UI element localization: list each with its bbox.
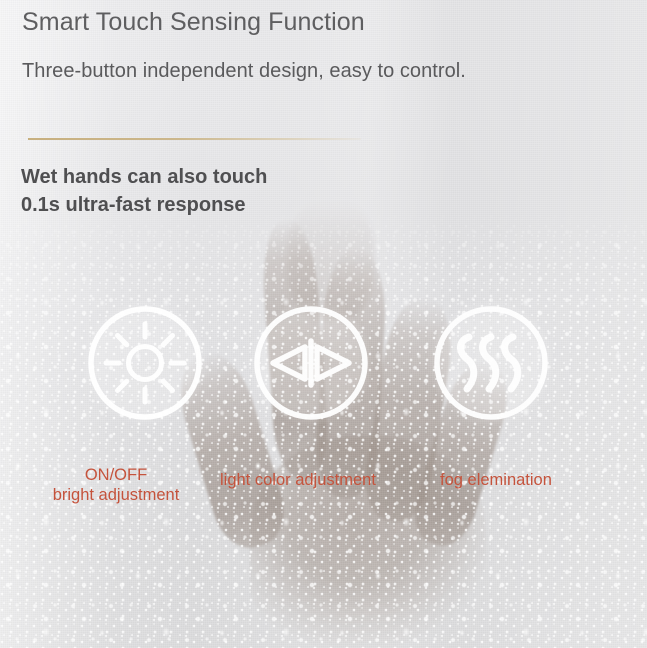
brightness-sun-icon-glyph xyxy=(87,305,203,421)
caption-brightness-line-1: ON/OFF xyxy=(18,465,214,485)
page-subtitle: Three-button independent design, easy to… xyxy=(22,60,466,83)
caption-fog-elimination: fog elemination xyxy=(440,470,552,490)
fog-elimination-waves-icon-glyph xyxy=(433,305,549,421)
light-color-adjust-arrows-icon-glyph xyxy=(253,305,369,421)
light-color-adjust-arrows-icon[interactable] xyxy=(253,305,369,421)
smart-touch-sensing-poster: Smart Touch Sensing Function Three-butto… xyxy=(0,0,647,648)
lead-line-1: Wet hands can also touch xyxy=(21,163,267,191)
brightness-sun-icon[interactable] xyxy=(87,305,203,421)
caption-light-color: light color adjustment xyxy=(220,470,376,490)
fog-elimination-waves-icon[interactable] xyxy=(433,305,549,421)
caption-brightness-line-2: bright adjustment xyxy=(18,485,214,505)
gold-divider-rule xyxy=(28,138,361,140)
caption-brightness: ON/OFF bright adjustment xyxy=(18,465,214,505)
lead-text-block: Wet hands can also touch 0.1s ultra-fast… xyxy=(21,163,267,219)
page-title: Smart Touch Sensing Function xyxy=(22,8,365,37)
lead-line-2: 0.1s ultra-fast response xyxy=(21,191,267,219)
hand-silhouette xyxy=(0,200,647,648)
